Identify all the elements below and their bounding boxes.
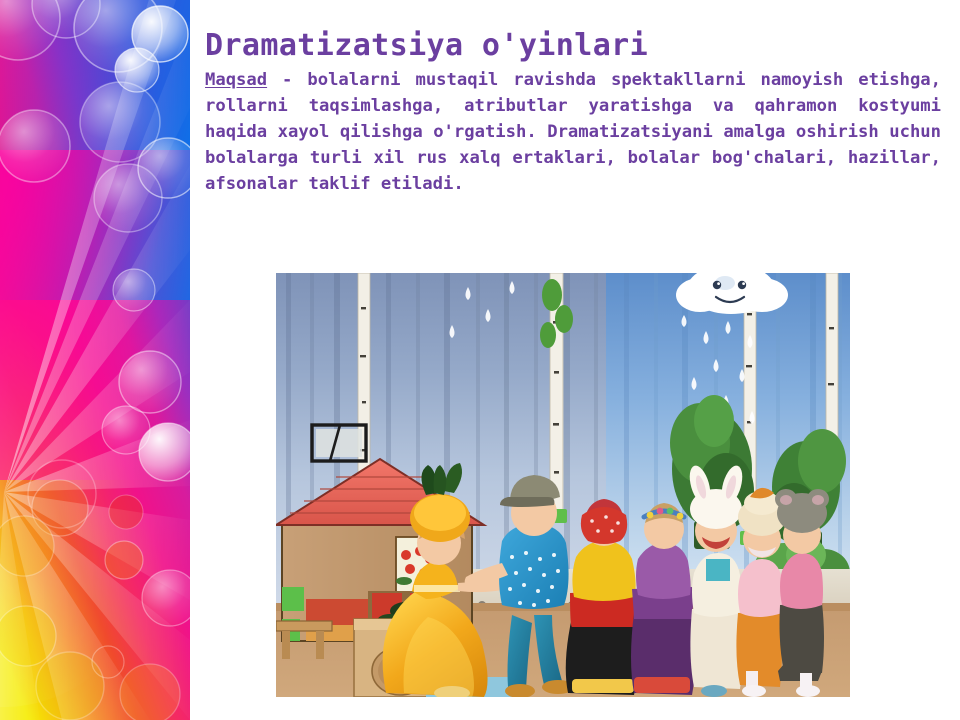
performance-photo-illustration: [276, 273, 850, 697]
chimney-prop: [312, 425, 366, 461]
sidebar-decoration: [0, 0, 190, 720]
text-content-block: Dramatizatsiya o'yinlari Maqsad - bolala…: [205, 28, 941, 197]
rainbow-rays-graphic: [0, 0, 190, 720]
cloud-decoration: [676, 273, 788, 314]
body-lead-label: Maqsad: [205, 70, 267, 90]
page-title: Dramatizatsiya o'yinlari: [205, 28, 941, 65]
body-text: - bolalarni mustaqil ravishda spektaklla…: [205, 70, 941, 195]
performer-mouse: [775, 489, 829, 697]
body-paragraph: Maqsad - bolalarni mustaqil ravishda spe…: [205, 67, 941, 198]
slide-canvas: Dramatizatsiya o'yinlari Maqsad - bolala…: [0, 0, 960, 720]
performance-photo: [276, 273, 850, 697]
